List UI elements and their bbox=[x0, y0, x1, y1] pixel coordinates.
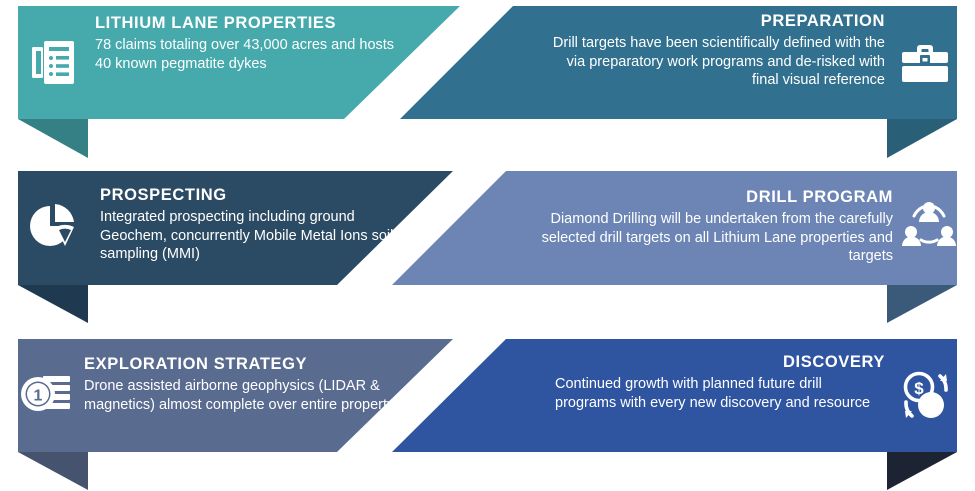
panel-body-lithium-lane-properties: 78 claims totaling over 43,000 acres and… bbox=[95, 36, 405, 73]
panel-text-discovery: DISCOVERY Continued growth with planned … bbox=[555, 353, 885, 412]
panel-title-exploration-strategy: EXPLORATION STRATEGY bbox=[84, 355, 424, 374]
document-list-icon bbox=[27, 36, 79, 88]
panel-text-lithium-lane-properties: LITHIUM LANE PROPERTIES 78 claims totali… bbox=[95, 14, 405, 73]
panel-body-prospecting: Integrated prospecting including ground … bbox=[100, 208, 400, 264]
panel-body-drill-program: Diamond Drilling will be undertaken from… bbox=[538, 210, 893, 266]
panel-text-prospecting: PROSPECTING Integrated prospecting inclu… bbox=[100, 186, 400, 264]
panel-tail-discovery bbox=[887, 452, 957, 490]
panel-text-preparation: PREPARATION Drill targets have been scie… bbox=[545, 12, 885, 90]
panel-body-discovery: Continued growth with planned future dri… bbox=[555, 375, 885, 412]
panel-tail-preparation bbox=[887, 119, 957, 158]
svg-text:1: 1 bbox=[34, 388, 43, 405]
coin-stack-one-icon: 1 bbox=[16, 370, 76, 422]
panel-tail-prospecting bbox=[18, 285, 88, 323]
pie-chart-icon bbox=[26, 200, 80, 252]
panel-title-preparation: PREPARATION bbox=[545, 12, 885, 31]
panel-title-drill-program: DRILL PROGRAM bbox=[538, 188, 893, 207]
panel-body-exploration-strategy: Drone assisted airborne geophysics (LIDA… bbox=[84, 377, 424, 414]
team-group-icon bbox=[902, 199, 956, 253]
panel-text-drill-program: DRILL PROGRAM Diamond Drilling will be u… bbox=[538, 188, 893, 266]
panel-text-exploration-strategy: EXPLORATION STRATEGY Drone assisted airb… bbox=[84, 355, 424, 414]
panel-tail-drill-program bbox=[887, 285, 957, 323]
panel-title-lithium-lane-properties: LITHIUM LANE PROPERTIES bbox=[95, 14, 405, 33]
briefcase-icon bbox=[898, 36, 952, 88]
panel-tail-lithium-lane-properties bbox=[18, 119, 88, 158]
exploration-process-infographic: 1 $ LITHIUM LANE PROPERTIES 78 claims to… bbox=[0, 0, 975, 491]
panel-tail-exploration-strategy bbox=[18, 452, 88, 490]
panel-title-prospecting: PROSPECTING bbox=[100, 186, 400, 205]
panel-title-discovery: DISCOVERY bbox=[555, 353, 885, 372]
panel-body-preparation: Drill targets have been scientifically d… bbox=[545, 34, 885, 90]
money-growth-icon: $ bbox=[900, 370, 956, 422]
